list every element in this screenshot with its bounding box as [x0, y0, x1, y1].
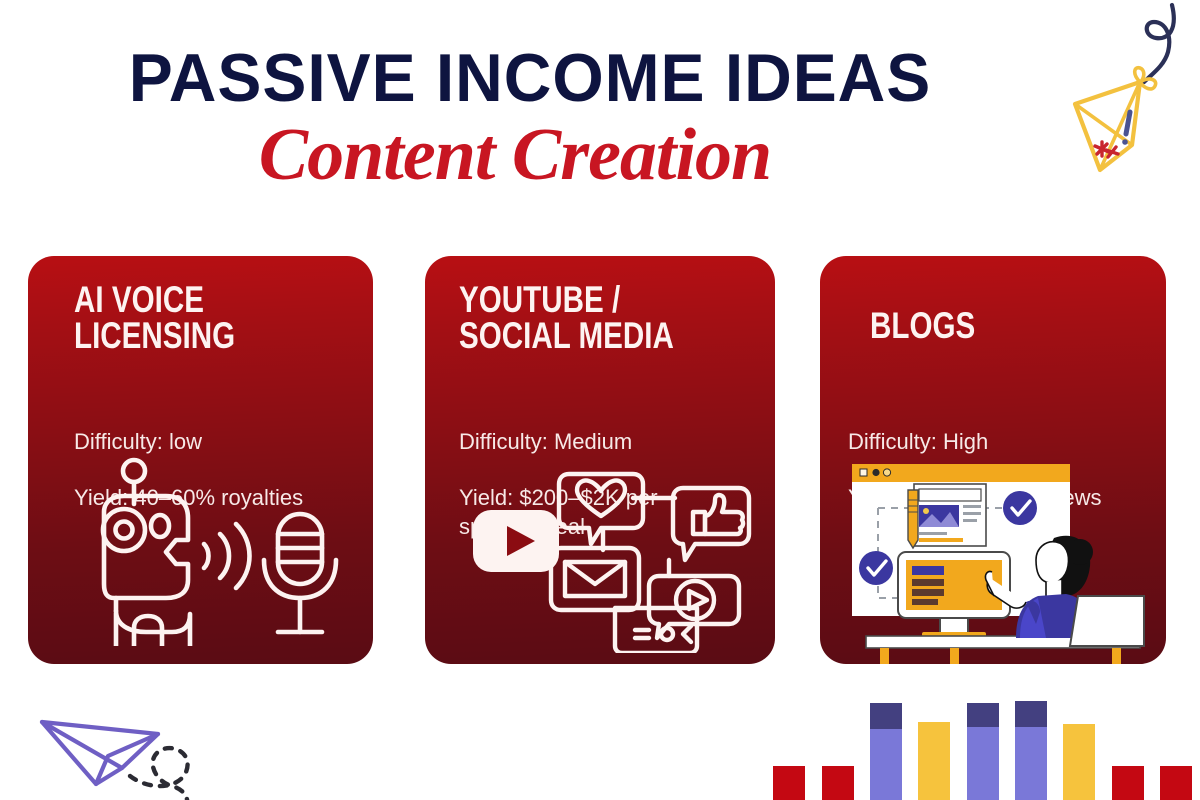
bar-chart-bar	[918, 722, 950, 800]
card-title: YOUTUBE / SOCIAL MEDIA	[459, 282, 674, 354]
cards-row: AI VOICE LICENSING Difficulty: low Yield…	[0, 256, 1200, 666]
bar-chart-bar	[1160, 766, 1192, 800]
bar-chart-bar	[1063, 724, 1095, 800]
bar-chart-bar	[967, 703, 999, 800]
robot-microphone-icon	[88, 456, 343, 646]
card-ai-voice-licensing[interactable]: AI VOICE LICENSING Difficulty: low Yield…	[28, 256, 373, 664]
youtube-social-icons	[443, 468, 763, 653]
card-title: AI VOICE LICENSING	[74, 282, 235, 354]
paper-plane-icon	[30, 690, 235, 800]
page-subtitle: Content Creation	[0, 118, 1030, 192]
youtube-icon	[473, 510, 559, 572]
kite-icon	[1040, 0, 1200, 200]
bar-chart-bar-cap	[870, 703, 902, 729]
bar-chart	[765, 690, 1200, 800]
card-youtube-social-media[interactable]: YOUTUBE / SOCIAL MEDIA Difficulty: Mediu…	[425, 256, 775, 664]
page-title: PASSIVE INCOME IDEAS	[16, 44, 1044, 112]
card-difficulty: Difficulty: Medium	[459, 428, 719, 456]
header: PASSIVE INCOME IDEAS Content Creation	[0, 0, 1200, 230]
bar-chart-bar	[870, 703, 902, 800]
bar-chart-bar	[1015, 701, 1047, 800]
card-blogs[interactable]: BLOGS Difficulty: High Yield: $2–$8 per …	[820, 256, 1166, 664]
bar-chart-bar-cap	[1015, 701, 1047, 727]
card-difficulty: Difficulty: low	[74, 428, 303, 456]
bar-chart-bar-cap	[967, 703, 999, 727]
blogger-at-desk-illustration	[840, 456, 1166, 664]
card-difficulty: Difficulty: High	[848, 428, 1166, 456]
bar-chart-bar	[1112, 766, 1144, 800]
bar-chart-bar	[773, 766, 805, 800]
bar-chart-bar	[822, 766, 854, 800]
card-title: BLOGS	[870, 308, 975, 344]
